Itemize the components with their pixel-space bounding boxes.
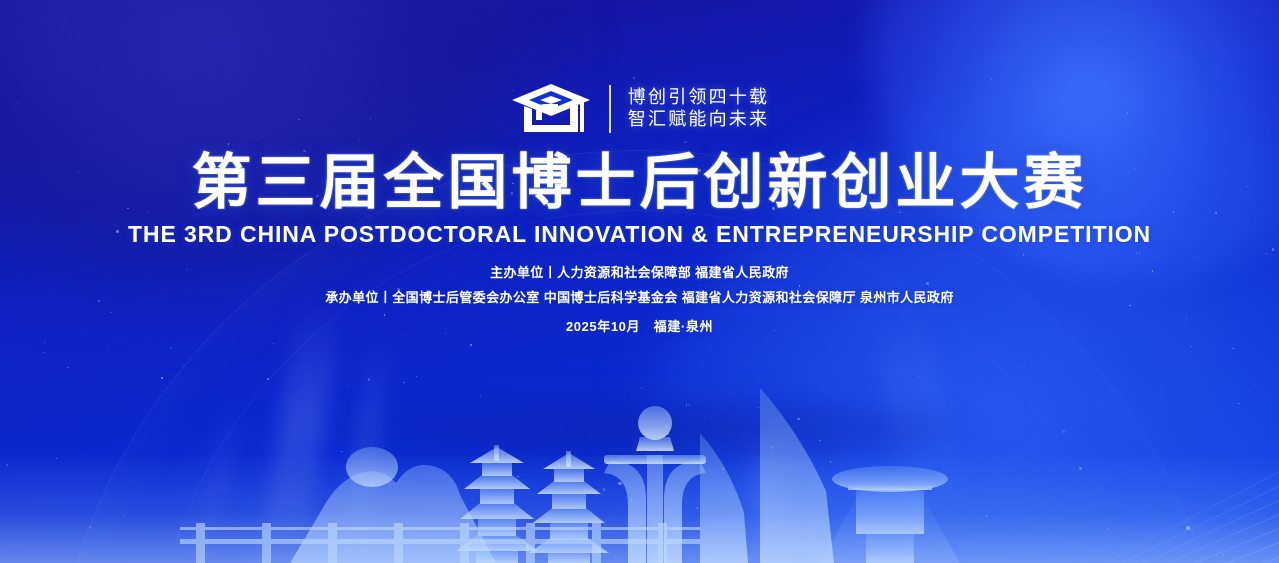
poster-canvas: 博创引领四十载 智汇赋能向未来 第三届全国博士后创新创业大赛 THE 3RD C…: [0, 0, 1279, 563]
organizer-block: 主办单位丨人力资源和社会保障部 福建省人民政府 承办单位丨全国博士后管委会办公室…: [0, 260, 1279, 311]
date-location: 2025年10月 福建·泉州: [0, 316, 1279, 335]
slogan-line-1: 博创引领四十载: [628, 87, 769, 109]
main-title-cn: 第三届全国博士后创新创业大赛: [0, 151, 1279, 216]
main-title-en: THE 3RD CHINA POSTDOCTORAL INNOVATION & …: [0, 221, 1279, 248]
organizer-line: 主办单位丨人力资源和社会保障部 福建省人民政府: [0, 260, 1279, 285]
organizer-line: 承办单位丨全国博士后管委会办公室 中国博士后科学基金会 福建省人力资源和社会保障…: [0, 285, 1279, 310]
logo-divider: [609, 85, 611, 133]
graduation-cap-emblem-icon: [510, 82, 592, 136]
logo-lockup: 博创引领四十载 智汇赋能向未来: [0, 82, 1279, 136]
logo-slogan: 博创引领四十载 智汇赋能向未来: [628, 87, 769, 131]
slogan-line-2: 智汇赋能向未来: [628, 109, 769, 131]
poster-content: 博创引领四十载 智汇赋能向未来 第三届全国博士后创新创业大赛 THE 3RD C…: [0, 0, 1279, 563]
